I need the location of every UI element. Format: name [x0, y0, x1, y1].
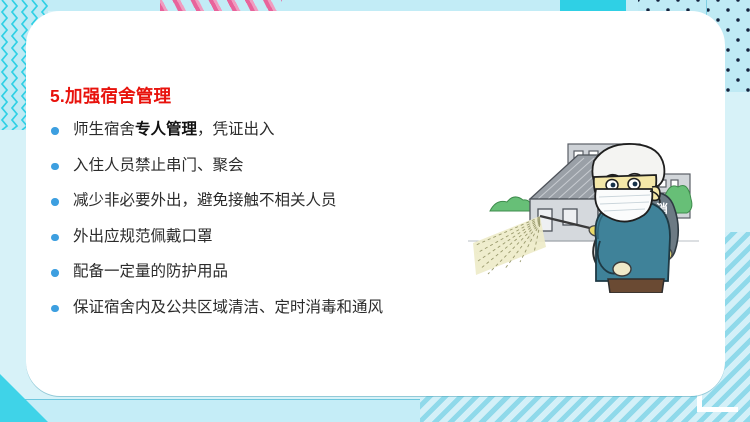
list-item: 师生宿舍专人管理，凭证出入: [46, 120, 516, 140]
list-item-text-pre: 入住人员禁止串门、聚会: [73, 157, 244, 174]
list-item: 减少非必要外出，避免接触不相关人员: [46, 191, 516, 211]
bullet-dot-icon: [51, 305, 59, 313]
bullet-dot-icon: [51, 163, 59, 171]
bullet-dot-icon: [51, 269, 59, 277]
list-item-text-pre: 师生宿舍: [73, 121, 135, 138]
list-item-text-pre: 保证宿舍内及公共区域清洁、定时消毒和通风: [73, 299, 383, 316]
list-item: 外出应规范佩戴口罩: [46, 227, 516, 247]
bullet-dot-icon: [51, 127, 59, 135]
list-item: 保证宿舍内及公共区域清洁、定时消毒和通风: [46, 298, 516, 318]
disinfection-worker-illustration: 消 毒: [468, 127, 699, 293]
slide-content: 5.加强宿舍管理 师生宿舍专人管理，凭证出入 入住人员禁止串门、聚会 减少非必要…: [0, 0, 750, 422]
page-title: 5.加强宿舍管理: [50, 83, 171, 108]
list-item-text-pre: 减少非必要外出，避免接触不相关人员: [73, 192, 337, 209]
list-item-text-pre: 配备一定量的防护用品: [73, 263, 228, 280]
list-item-text-post: ，凭证出入: [197, 121, 275, 138]
list-item: 配备一定量的防护用品: [46, 262, 516, 282]
slide-canvas: 5.加强宿舍管理 师生宿舍专人管理，凭证出入 入住人员禁止串门、聚会 减少非必要…: [0, 0, 750, 422]
bullet-dot-icon: [51, 234, 59, 242]
list-item-text-bold: 专人管理: [135, 121, 197, 138]
list-item-text-pre: 外出应规范佩戴口罩: [73, 228, 213, 245]
bullet-list: 师生宿舍专人管理，凭证出入 入住人员禁止串门、聚会 减少非必要外出，避免接触不相…: [46, 120, 516, 333]
bullet-dot-icon: [51, 198, 59, 206]
list-item: 入住人员禁止串门、聚会: [46, 156, 516, 176]
